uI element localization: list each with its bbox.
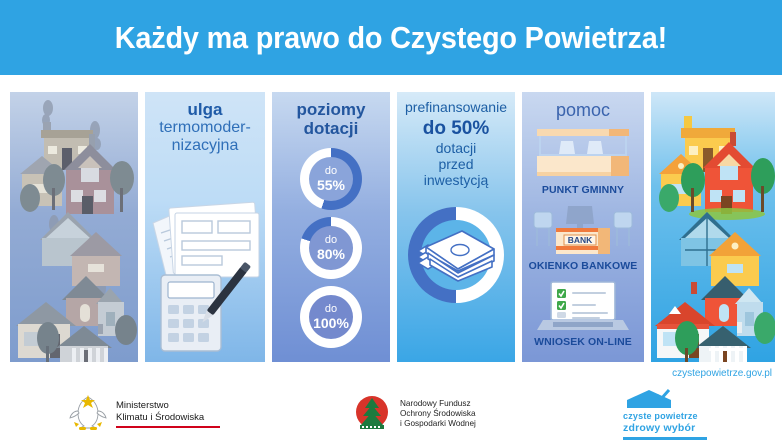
panel-title-poziomy: poziomy dotacji [272,92,390,138]
cp-underline-bar [623,437,707,440]
prefin-line3: dotacji [401,141,511,157]
poziomy-line2: dotacji [276,119,386,138]
ministry-logo-text: Ministerstwo Klimatu i Środowiska [116,400,220,428]
bank-window-icon: BANK [522,202,644,258]
polluted-village-illustration [10,92,138,362]
nfos-line3: i Gospodarki Wodnej [400,419,476,429]
donut-55-value: 55% [317,178,345,193]
infographic-page: Każdy ma prawo do Czystego Powietrza! [0,0,782,440]
prefin-line4: przed [401,157,511,173]
czyste-powietrze-logo: czyste powietrze zdrowy wybór [623,388,707,439]
documents-calculator-illustration [145,175,265,360]
nfos-line2: Ochrony Środowiska [400,409,476,419]
prefin-line1: prefinansowanie [405,99,507,115]
help-item-punkt-gminny: PUNKT GMINNY [522,126,644,196]
donut-50 [408,207,504,303]
nfos-line1: Narodowy Fundusz [400,399,476,409]
nfos-logo-text: Narodowy Fundusz Ochrony Środowiska i Go… [400,399,476,429]
poziomy-line1: poziomy [276,100,386,119]
money-graphic [397,207,515,303]
site-url[interactable]: czystepowietrze.gov.pl [672,368,772,379]
panel-ulga-termomodernizacyjna: ulga termomoder- nizacyjna [145,92,265,362]
ministry-of-climate-logo: Ministerstwo Klimatu i Środowiska [68,393,220,435]
donut-100-value: 100% [313,316,349,331]
panel-title-prefinansowanie: prefinansowanie do 50% dotacji przed inw… [397,92,515,189]
cp-line1: czyste powietrze [623,411,698,421]
donut-80-value: 80% [317,247,345,262]
bank-sign-text: BANK [568,235,593,245]
laptop-form-icon [522,278,644,334]
panel-poziomy-dotacji: poziomy dotacji do 55% do 80% [272,92,390,362]
nfosigw-logo: Narodowy Fundusz Ochrony Środowiska i Go… [352,394,476,434]
prefin-do50: do 50% [401,118,511,139]
ulga-word: ulga [149,100,261,119]
banknote-stack-icon [408,207,504,303]
panel-pomoc: pomoc PUNKT GM [522,92,644,362]
help-label-okienko-bankowe: OKIENKO BANKOWE [522,260,644,272]
termo-line1: termomoder- [149,119,261,137]
house-check-icon [623,388,707,410]
footer-logos: Ministerstwo Klimatu i Środowiska [0,388,782,440]
donut-80-label: do 80% [317,235,345,261]
help-label-wniosek-online: WNIOSEK ON-LINE [522,336,644,348]
donut-80: do 80% [300,217,362,279]
prefin-line5: inwestycją [401,173,511,189]
panel-clean-village [651,92,775,362]
help-item-wniosek-online: WNIOSEK ON-LINE [522,278,644,348]
ministry-line1: Ministerstwo [116,400,220,411]
panel-title-pomoc: pomoc [522,92,644,120]
counter-desk-icon [522,126,644,182]
ministry-line2: Klimatu i Środowiska [116,412,220,423]
donut-100: do 100% [300,286,362,348]
donut-55-label: do 55% [317,166,345,192]
cp-logo-text: czyste powietrze zdrowy wybór [623,411,698,433]
panel-polluted-village [10,92,138,362]
clean-village-illustration [651,92,775,362]
panel-prefinansowanie: prefinansowanie do 50% dotacji przed inw… [397,92,515,362]
panels-strip: ulga termomoder- nizacyjna [0,92,782,362]
polish-eagle-icon [68,393,108,435]
panel-title-ulga: ulga termomoder- nizacyjna [145,92,265,155]
page-title: Każdy ma prawo do Czystego Powietrza! [115,20,667,56]
donut-100-label: do 100% [313,304,349,330]
nfosigw-tree-icon [352,394,392,434]
donut-55: do 55% [300,148,362,210]
donut-list: do 55% do 80% do 100% [272,148,390,348]
header-banner: Każdy ma prawo do Czystego Powietrza! [0,0,782,75]
ministry-red-rule [116,426,220,428]
help-item-okienko-bankowe: BANK OKIENKO BANKOWE [522,202,644,272]
help-label-punkt-gminny: PUNKT GMINNY [522,184,644,196]
cp-line2: zdrowy wybór [623,422,698,434]
termo-line2: nizacyjna [149,137,261,155]
